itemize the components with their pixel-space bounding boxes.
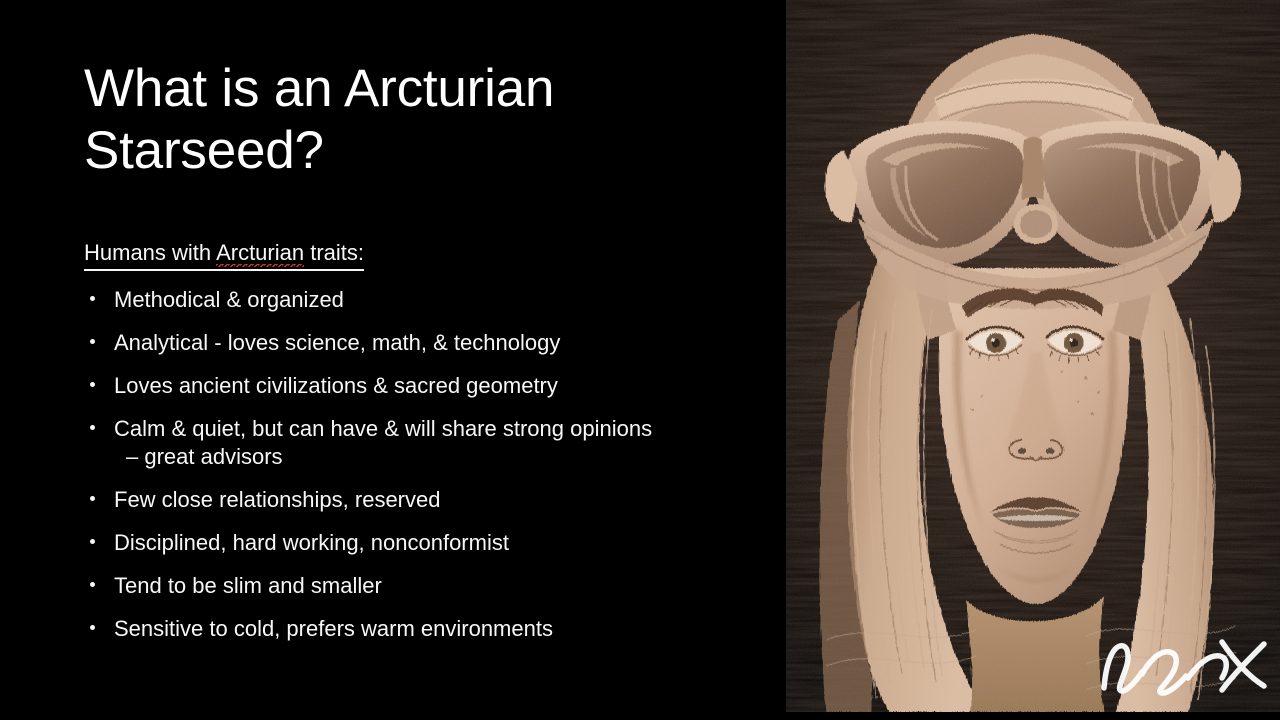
list-item: Loves ancient civilizations & sacred geo… — [84, 372, 764, 400]
bullet-dot-icon — [90, 296, 95, 301]
bullet-dot-icon — [90, 496, 95, 501]
bullet-text: Tend to be slim and smaller — [114, 572, 764, 600]
bullet-dot-icon — [90, 582, 95, 587]
bullet-text: Disciplined, hard working, nonconformist — [114, 529, 764, 557]
list-item: Methodical & organized — [84, 286, 764, 314]
list-item: Calm & quiet, but can have & will share … — [84, 415, 764, 471]
list-item: Tend to be slim and smaller — [84, 572, 764, 600]
misspelled-word-arcturian: Arcturian — [216, 240, 304, 267]
list-item: Sensitive to cold, prefers warm environm… — [84, 615, 764, 643]
bottom-black-band — [786, 712, 1280, 720]
slide-text-column: What is an Arcturian Starseed? Humans wi… — [0, 0, 786, 720]
list-item: Disciplined, hard working, nonconformist — [84, 529, 764, 557]
list-item: Analytical - loves science, math, & tech… — [84, 329, 764, 357]
slide-body: Humans with Arcturian traits: Methodical… — [84, 238, 764, 658]
portrait-artwork — [786, 0, 1280, 712]
slide-title: What is an Arcturian Starseed? — [84, 58, 744, 182]
bullet-dot-icon — [90, 539, 95, 544]
lead-line-after: traits: — [304, 240, 364, 265]
presentation-slide: What is an Arcturian Starseed? Humans wi… — [0, 0, 1280, 720]
list-item: Few close relationships, reserved — [84, 486, 764, 514]
bullet-text-continuation: – great advisors — [114, 443, 764, 471]
bullet-text: Analytical - loves science, math, & tech… — [114, 329, 764, 357]
bullet-text: Methodical & organized — [114, 286, 764, 314]
bullet-dot-icon — [90, 425, 95, 430]
bullet-text: Loves ancient civilizations & sacred geo… — [114, 372, 764, 400]
bullet-dot-icon — [90, 382, 95, 387]
bullet-text: Few close relationships, reserved — [114, 486, 764, 514]
bullet-text: Calm & quiet, but can have & will share … — [114, 415, 764, 443]
bullet-dot-icon — [90, 339, 95, 344]
lead-line-before: Humans with — [84, 240, 216, 265]
portrait-illustration — [786, 0, 1280, 712]
bullet-text: Sensitive to cold, prefers warm environm… — [114, 615, 764, 643]
bullet-dot-icon — [90, 625, 95, 630]
body-lead-line: Humans with Arcturian traits: — [84, 238, 364, 271]
traits-bullet-list: Methodical & organized Analytical - love… — [84, 286, 764, 643]
